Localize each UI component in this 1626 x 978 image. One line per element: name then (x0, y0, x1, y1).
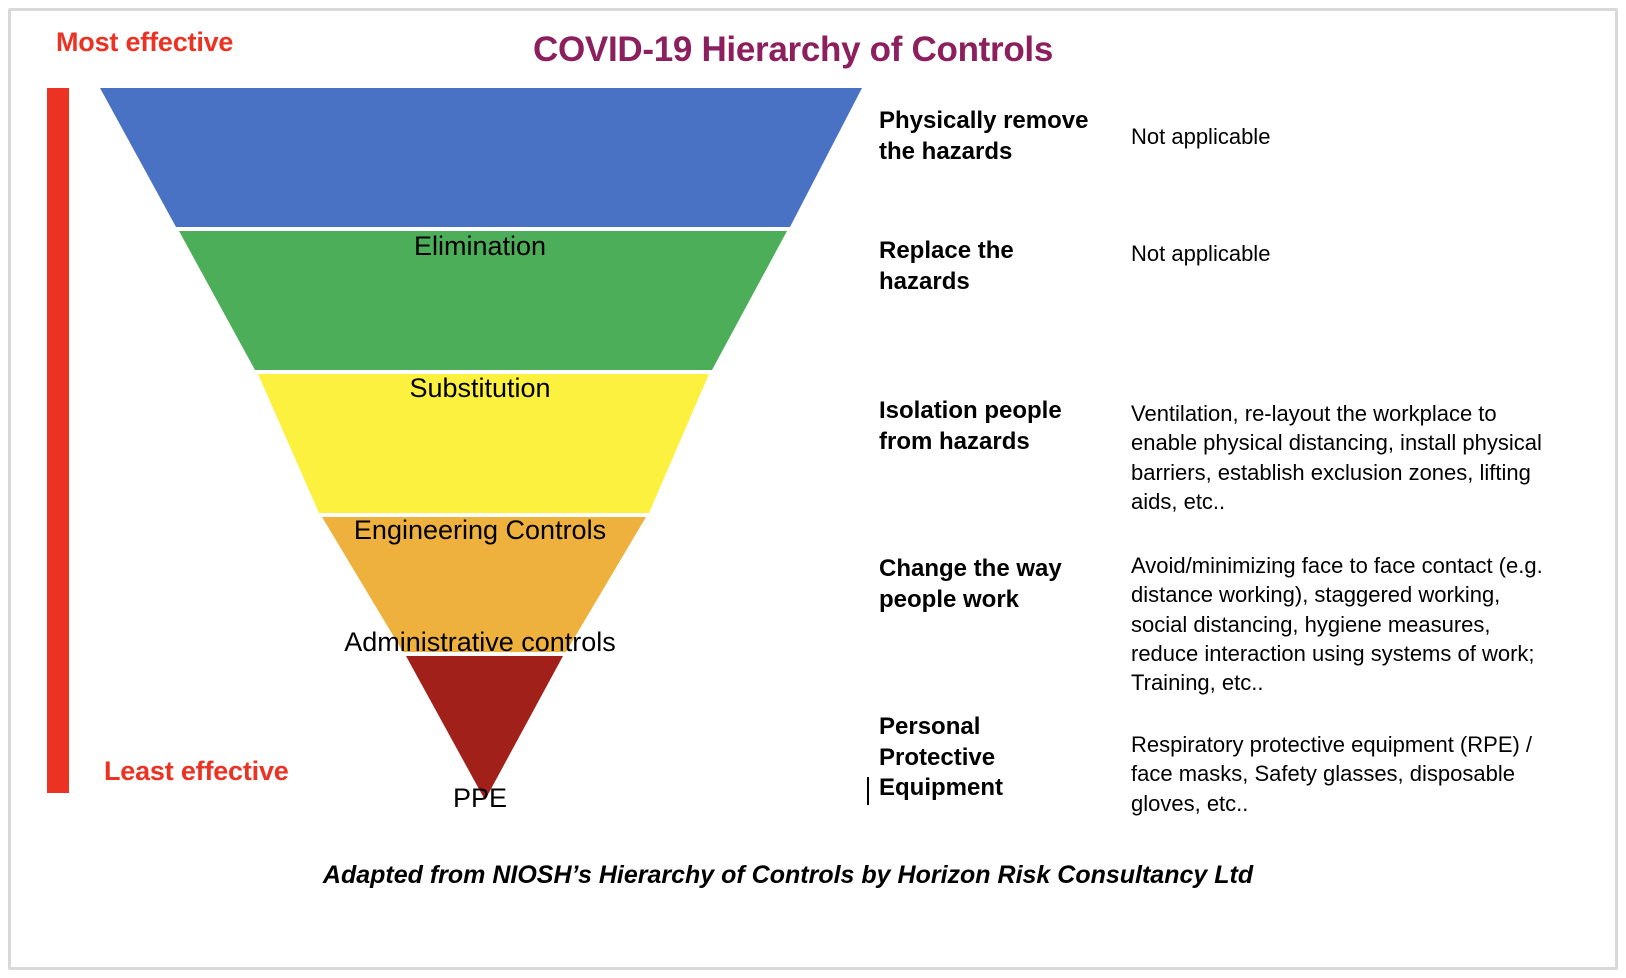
action-administrative-controls: Change the way people work (879, 554, 1094, 615)
attribution-text: Adapted from NIOSH’s Hierarchy of Contro… (323, 861, 1253, 890)
funnel-band-administrative-controls[interactable] (322, 517, 646, 652)
page-title-text: COVID-19 Hierarchy of Controls (533, 30, 1053, 70)
funnel-band-ppe[interactable] (406, 656, 563, 800)
funnel-band-engineering-controls[interactable] (258, 374, 709, 513)
examples-engineering-controls: Ventilation, re-layout the workplace to … (1131, 399, 1551, 516)
page-title: COVID-19 Hierarchy of Controls (0, 30, 1626, 70)
examples-substitution: Not applicable (1131, 239, 1551, 268)
action-elimination: Physically remove the hazards (879, 106, 1094, 167)
action-substitution: Replace the hazards (879, 236, 1094, 297)
funnel-band-elimination[interactable] (100, 88, 862, 227)
effectiveness-scale-bar (47, 88, 69, 793)
funnel-band-substitution[interactable] (179, 231, 787, 370)
action-engineering-controls: Isolation people from hazards (879, 396, 1094, 457)
examples-ppe: Respiratory protective equipment (RPE) /… (1131, 730, 1551, 818)
text-cursor-caret (867, 777, 869, 805)
hierarchy-funnel: Elimination Substitution Engineering Con… (100, 88, 862, 800)
attribution-footer: Adapted from NIOSH’s Hierarchy of Contro… (0, 861, 1626, 890)
action-ppe: Personal Protective Equipment (879, 712, 1094, 804)
examples-elimination: Not applicable (1131, 122, 1551, 151)
examples-administrative-controls: Avoid/minimizing face to face contact (e… (1131, 551, 1551, 697)
slide-canvas: Most effective Least effective COVID-19 … (0, 0, 1626, 978)
